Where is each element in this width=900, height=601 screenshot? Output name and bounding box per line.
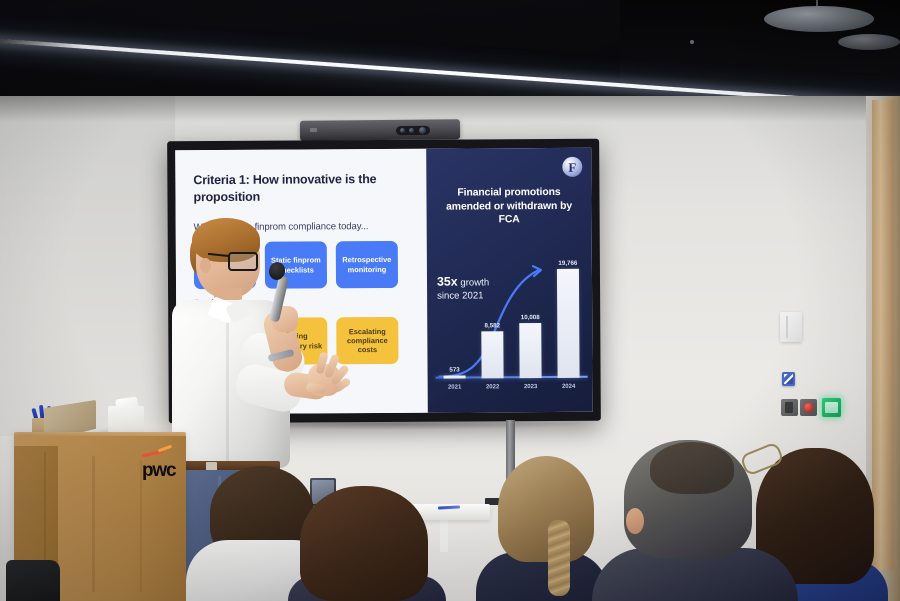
pwc-logo: pwc (142, 460, 175, 482)
company-logo-icon: F (562, 157, 582, 177)
wall-shadow (0, 96, 900, 122)
logo-letter: F (568, 160, 576, 173)
wooden-door-frame (872, 100, 894, 570)
camera-lens-icon (409, 128, 414, 133)
chair (6, 560, 60, 601)
camera-lens-icon (419, 127, 426, 134)
attendee-braided-hair-head (498, 456, 594, 562)
attendee-ear (626, 508, 644, 534)
presenter-ear (200, 258, 211, 273)
light-switch-rocker[interactable] (785, 402, 793, 413)
thermostat-icon[interactable] (780, 312, 802, 342)
chart-x-tick: 2022 (473, 384, 513, 390)
emergency-button-icon[interactable] (804, 403, 813, 412)
wall-sign-glyph (784, 374, 793, 384)
presentation-room-photo: Criteria 1: How innovative is the propos… (0, 0, 900, 601)
chart-bar (444, 375, 466, 378)
chart-bar-value: 19,766 (548, 260, 588, 267)
side-table-leg (440, 518, 448, 552)
slide-right-panel: F Financial promotions amended or withdr… (426, 148, 593, 413)
wood-grain (92, 456, 95, 592)
shirt-placket (226, 318, 229, 464)
chart-x-tick: 2024 (549, 384, 589, 390)
chart-bar (519, 323, 541, 378)
green-call-box-glyph (825, 402, 838, 413)
camera-lens-icon (400, 128, 405, 133)
side-wall (0, 96, 175, 436)
bar-chart: 57320218,582202210,008202319,7662024 (435, 244, 588, 397)
video-camera-bar (300, 119, 460, 141)
glasses-icon (228, 252, 258, 271)
hair-braid (548, 520, 570, 596)
ceiling-spot-light (690, 40, 694, 44)
thermostat-detail (786, 316, 788, 338)
chart-bar-value: 573 (435, 366, 475, 373)
chart-bar-value: 8,582 (472, 322, 512, 329)
chart-bar (557, 269, 580, 378)
pendant-light-secondary (838, 34, 900, 50)
chart-title: Financial promotions amended or withdraw… (436, 186, 581, 227)
chart-bars: 57320218,582202210,008202319,7662024 (435, 244, 587, 245)
attendee-long-dark-hair-head (300, 486, 428, 601)
pendant-light (764, 6, 874, 32)
chart-bar-value: 10,008 (510, 314, 550, 321)
chart-x-tick: 2023 (511, 384, 551, 390)
attendee-grey-hair-top (650, 442, 734, 494)
camera-status-led (310, 128, 317, 132)
chart-x-tick: 2021 (435, 384, 475, 390)
chart-bar (481, 331, 503, 379)
slide-title: Criteria 1: How innovative is the propos… (193, 171, 403, 205)
